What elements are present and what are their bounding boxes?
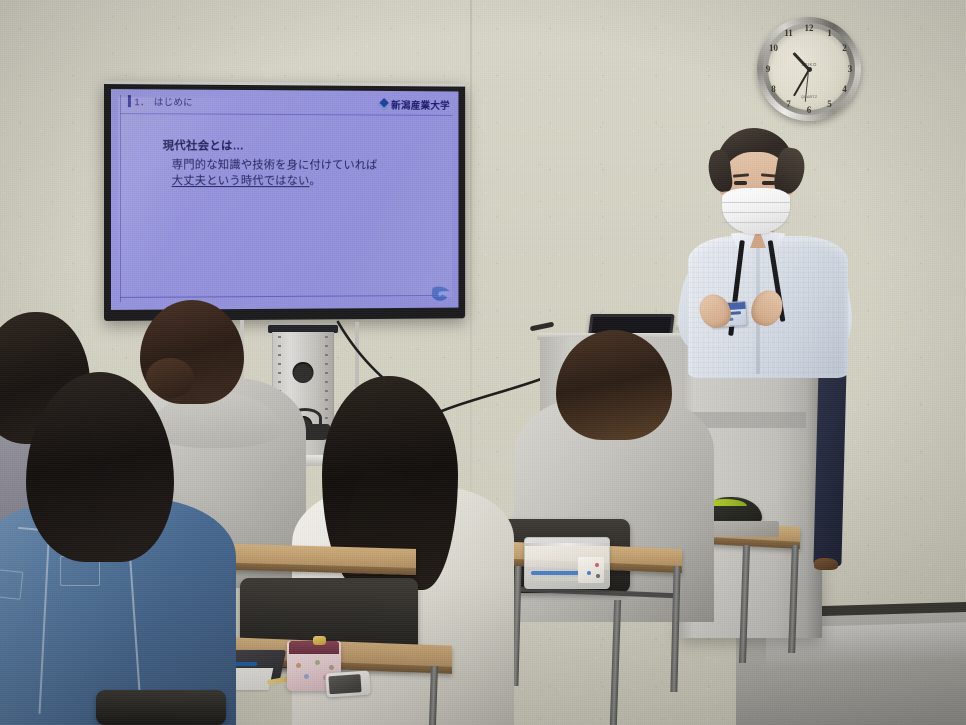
denim-pocket-right — [0, 568, 23, 600]
presentation-display: 1． はじめに 新潟産業大学 現代社会とは… 専門的な知識や技術を身に付けていれ… — [104, 81, 465, 321]
presenter-trousers — [813, 366, 846, 567]
label-dot-blue — [587, 571, 591, 575]
presenter-standing — [664, 128, 864, 378]
label-dot-gray — [596, 574, 600, 578]
slide-corner-watermark-icon — [431, 284, 452, 304]
pen-gray — [533, 577, 579, 581]
slide-line-2-tail: 。 — [309, 175, 320, 187]
diamond-logo-icon — [378, 98, 390, 111]
clock-numeral-3: 3 — [844, 65, 856, 74]
slide-body: 現代社会とは… 専門的な知識や技術を身に付けていれば 大丈夫という時代ではない。 — [163, 137, 443, 188]
label-dot-red — [595, 563, 599, 567]
university-logo: 新潟産業大学 — [380, 97, 450, 112]
wall-clock: SEIKO QUARTZ 121234567891011 — [757, 17, 861, 121]
presenter-shoe — [814, 558, 838, 570]
pencil-case-zipper — [525, 543, 609, 546]
chair-front — [96, 690, 226, 725]
phone-screen — [328, 674, 361, 694]
clock-numeral-11: 11 — [783, 29, 795, 38]
slide-line-2-underlined: 大丈夫という時代ではない — [172, 175, 310, 187]
pen-blue — [531, 571, 583, 575]
clock-numeral-8: 8 — [768, 85, 780, 94]
slide-title-accent-bar — [128, 95, 130, 107]
clock-numeral-5: 5 — [824, 100, 836, 109]
slide-heading: 現代社会とは… — [163, 137, 443, 154]
presentation-slide: 1． はじめに 新潟産業大学 現代社会とは… 専門的な知識や技術を身に付けていれ… — [111, 89, 458, 310]
cable-pass-hole-upper — [293, 362, 314, 383]
pouch-motif-5 — [329, 665, 334, 670]
slide-section-title: はじめに — [154, 94, 193, 108]
white-smartphone — [325, 670, 371, 697]
pencil-case-label — [578, 557, 604, 583]
presenter-face-mask — [722, 188, 790, 234]
mask-fold-3 — [722, 222, 790, 223]
clock-numeral-6: 6 — [803, 106, 815, 115]
slide-line-2: 大丈夫という時代ではない。 — [172, 172, 444, 188]
clock-numeral-2: 2 — [839, 44, 851, 53]
clock-numeral-10: 10 — [768, 44, 780, 53]
lecture-room-photo: SEIKO QUARTZ 121234567891011 1． はじめに — [0, 0, 966, 725]
pouch-motif-1 — [296, 663, 301, 668]
slide-left-rule — [120, 95, 121, 302]
mask-fold-2 — [722, 212, 790, 213]
mask-fold-1 — [722, 202, 790, 203]
clock-numeral-9: 9 — [762, 65, 774, 74]
display-panel: 1． はじめに 新潟産業大学 現代社会とは… 専門的な知識や技術を身に付けていれ… — [111, 89, 458, 310]
clock-numeral-4: 4 — [839, 85, 851, 94]
clock-face: SEIKO QUARTZ 121234567891011 — [768, 28, 850, 110]
clock-numeral-12: 12 — [803, 24, 815, 33]
pouch-motif-2 — [315, 660, 320, 665]
clear-pencil-case — [524, 537, 610, 589]
clock-numeral-1: 1 — [824, 29, 836, 38]
university-name: 新潟産業大学 — [391, 97, 450, 112]
slide-section-number: 1． — [134, 94, 149, 108]
presenter-eye-right — [762, 181, 775, 185]
presenter-eye-left — [734, 181, 747, 185]
pouch-gold-clasp — [313, 636, 326, 645]
slide-header: 1． はじめに — [128, 94, 193, 108]
slide-line-1: 専門的な知識や技術を身に付けていれば — [172, 156, 444, 172]
student-hoodie-hair-bun — [146, 358, 194, 398]
clock-center-pin — [807, 67, 812, 72]
clock-numeral-7: 7 — [783, 100, 795, 109]
pouch-motif-3 — [304, 674, 309, 679]
slide-top-rule — [120, 113, 453, 116]
slide-bottom-rule — [120, 295, 437, 298]
clock-sub-label: QUARTZ — [801, 94, 817, 99]
